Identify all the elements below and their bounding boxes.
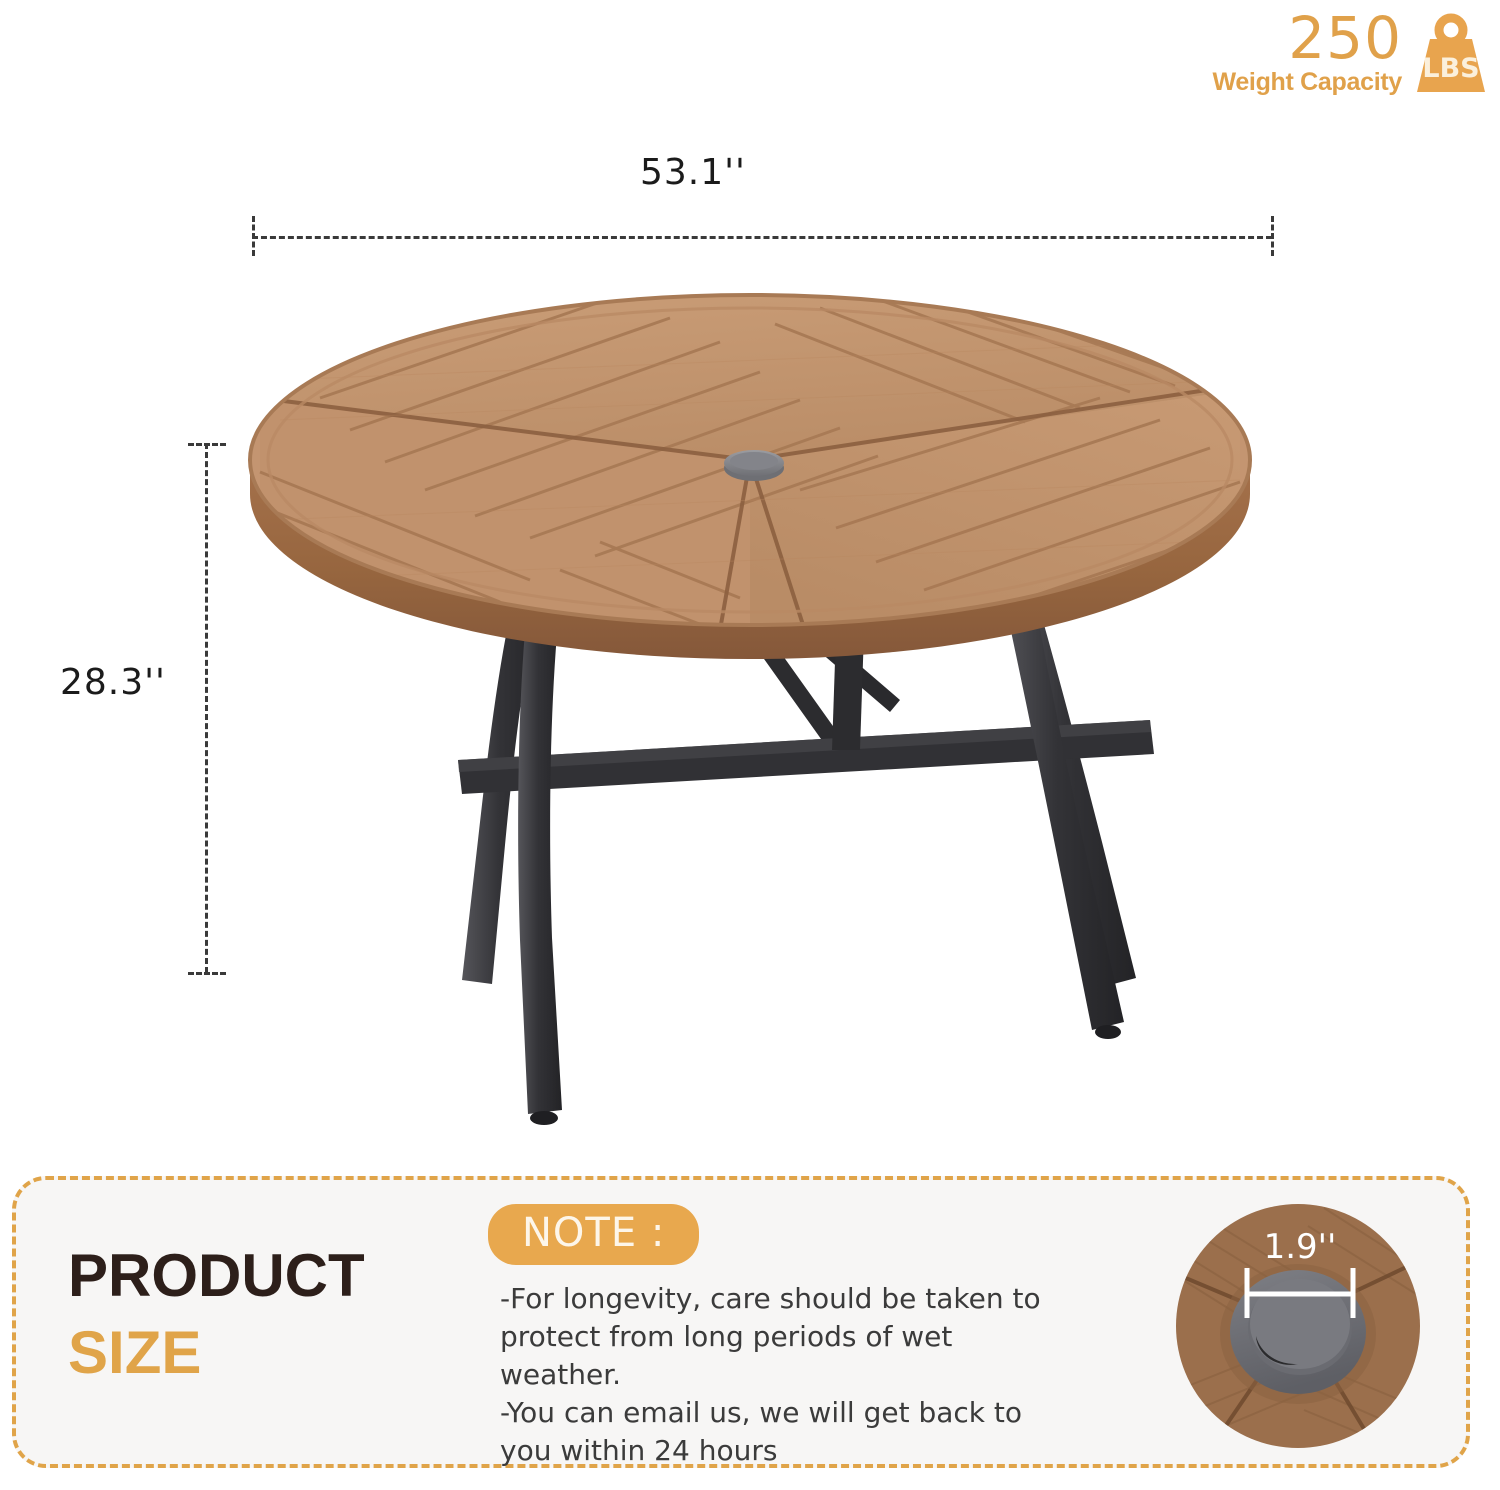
- note-body: -For longevity, care should be taken to …: [500, 1280, 1060, 1470]
- hole-dimension-label: 1.9'': [1264, 1227, 1337, 1267]
- width-tick-left: [252, 216, 255, 256]
- note-badge: NOTE :: [488, 1204, 699, 1265]
- umbrella-hole-cap: [724, 450, 784, 481]
- umbrella-hole-inset: 1.9'': [1148, 1196, 1448, 1468]
- width-dimension-line: [252, 236, 1272, 239]
- width-tick-right: [1271, 216, 1274, 256]
- weight-icon-text: LBS: [1422, 53, 1479, 84]
- width-dimension-label: 53.1'': [640, 152, 746, 193]
- weight-capacity-badge: 250 Weight Capacity LBS: [1180, 4, 1490, 104]
- height-dimension-label: 28.3'': [60, 662, 166, 703]
- note-line-2: protect from long periods of wet: [500, 1318, 1060, 1356]
- weight-capacity-label: Weight Capacity: [1212, 68, 1402, 97]
- infographic-canvas: 250 Weight Capacity LBS 53.1'' 28.3'': [0, 0, 1500, 1490]
- weight-icon: LBS: [1412, 13, 1490, 95]
- note-line-1: -For longevity, care should be taken to: [500, 1280, 1060, 1318]
- note-line-5: you within 24 hours: [500, 1432, 1060, 1470]
- product-size-heading: PRODUCT SIZE: [68, 1244, 488, 1384]
- weight-capacity-number: 250: [1212, 11, 1402, 66]
- patio-table-illustration: [200, 280, 1300, 1140]
- table-legs: [458, 580, 1154, 1125]
- note-line-4: -You can email us, we will get back to: [500, 1394, 1060, 1432]
- product-size-line1: PRODUCT: [68, 1244, 488, 1307]
- note-line-3: weather.: [500, 1356, 1060, 1394]
- product-size-line2: SIZE: [68, 1321, 488, 1384]
- weight-capacity-text: 250 Weight Capacity: [1212, 11, 1402, 97]
